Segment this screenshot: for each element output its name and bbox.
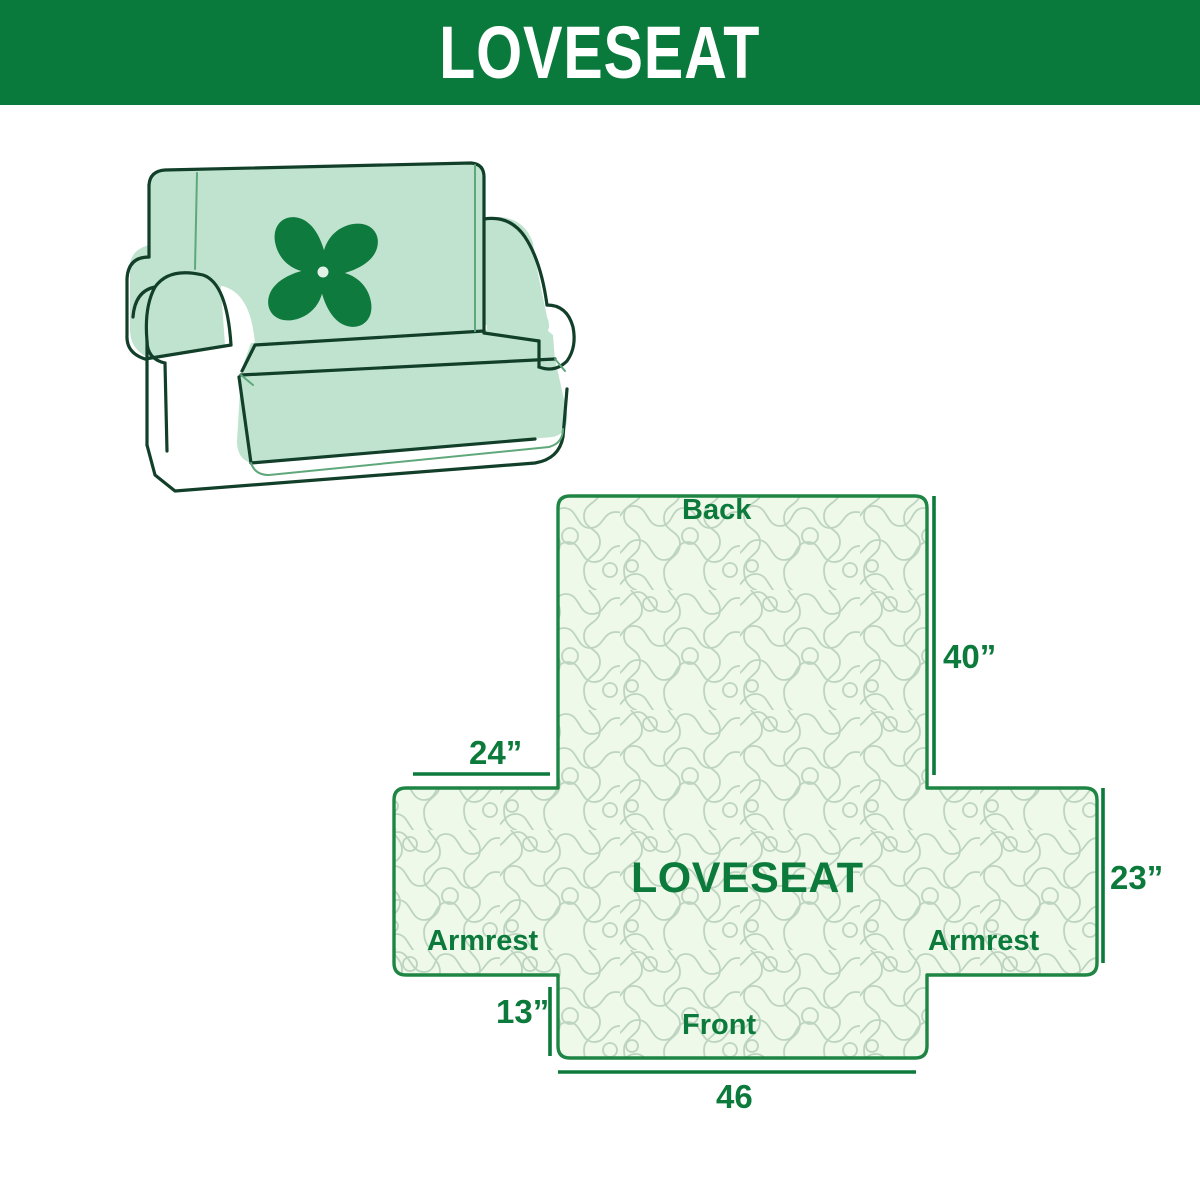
cover-cross-shape [394,496,1097,1058]
dimension-label-24: 24” [469,734,522,772]
page-title: LOVESEAT [439,16,760,90]
dimension-label-40: 40” [943,638,996,676]
dimension-label-23: 23” [1110,859,1163,897]
label-front: Front [682,1009,756,1042]
label-armrest-left: Armrest [427,925,538,958]
cover-diagram: Back LOVESEAT Front Armrest Armrest 40” … [380,470,1200,1150]
label-back: Back [682,494,751,527]
dimension-label-46: 46 [716,1078,753,1116]
label-center-loveseat: LOVESEAT [631,854,864,903]
header-banner: LOVESEAT [0,0,1200,105]
cover-diagram-svg [380,470,1200,1150]
label-armrest-right: Armrest [928,925,1039,958]
dimension-label-13: 13” [496,993,549,1031]
